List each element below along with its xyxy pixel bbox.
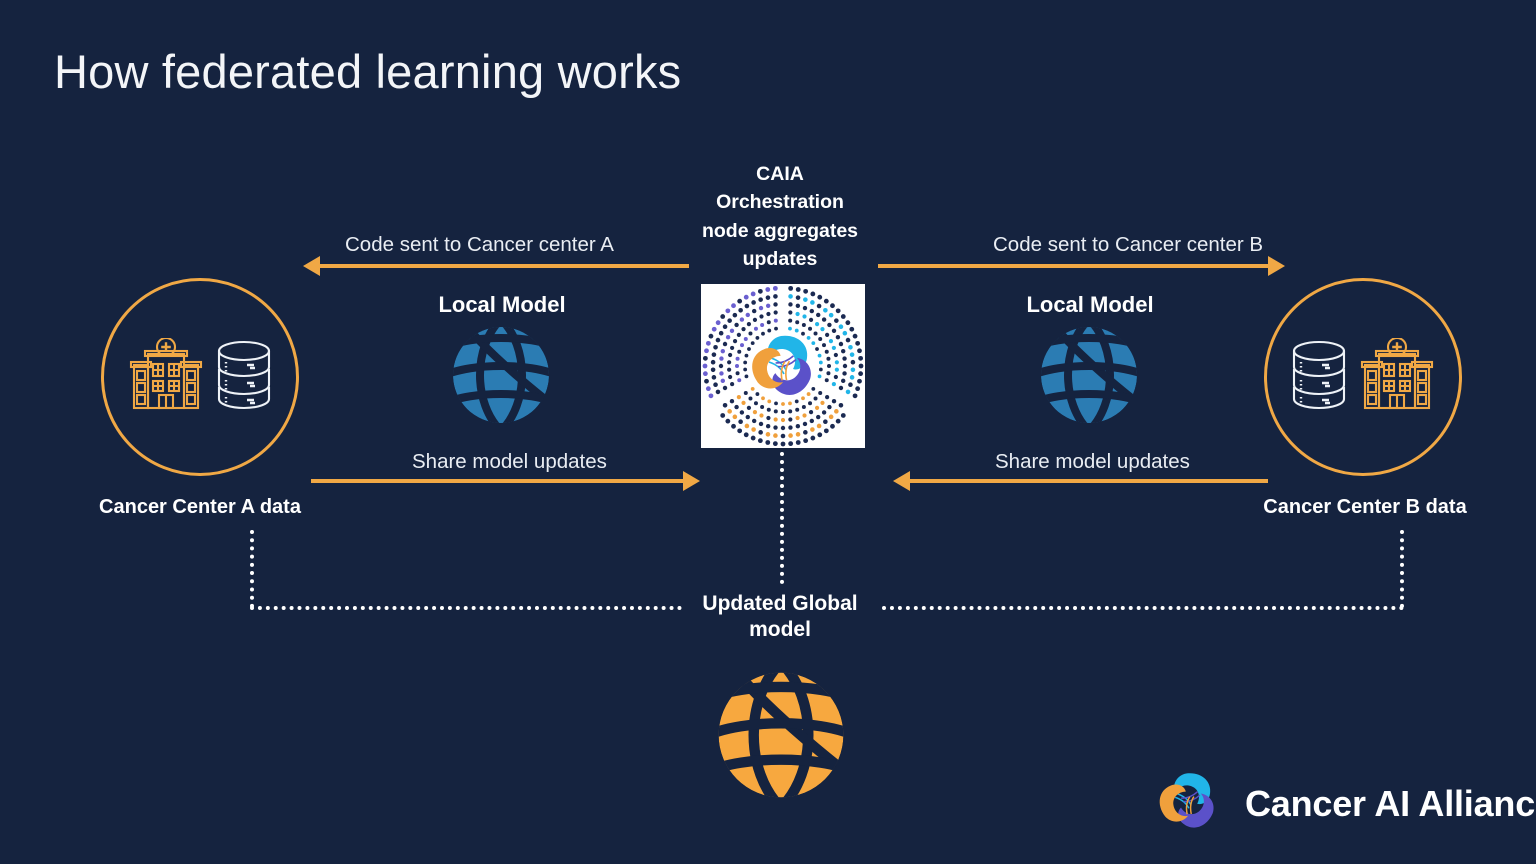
globe-icon xyxy=(716,670,846,805)
dotted-connector-hub-down xyxy=(780,452,784,584)
share-updates-from-a-label: Share model updates xyxy=(412,450,607,474)
caia-orchestration-heading: CAIA Orchestration node aggregates updat… xyxy=(660,160,900,273)
database-icon xyxy=(213,339,275,416)
cancer-center-a-label: Cancer Center A data xyxy=(60,496,340,519)
hospital-icon xyxy=(125,338,207,417)
cancer-center-b-circle xyxy=(1264,278,1462,476)
caia-heading-line-4: updates xyxy=(660,245,900,273)
caia-heading-line-1: CAIA xyxy=(660,160,900,188)
updated-global-model-line-1: Updated Global xyxy=(660,591,900,617)
cancer-center-a-circle xyxy=(101,278,299,476)
dotted-connector-a-down xyxy=(250,530,254,608)
globe-icon xyxy=(1039,325,1139,430)
cancer-center-b-icons xyxy=(1267,281,1459,473)
cancer-center-b-label: Cancer Center B data xyxy=(1225,496,1505,519)
hospital-icon xyxy=(1356,338,1438,417)
local-model-left-label: Local Model xyxy=(402,292,602,318)
share-updates-from-b-arrow-head xyxy=(893,471,910,491)
caia-heading-line-2: Orchestration xyxy=(660,188,900,216)
cancer-center-a-icons xyxy=(104,281,296,473)
updated-global-model-line-2: model xyxy=(660,617,900,643)
caia-heading-line-3: node aggregates xyxy=(660,217,900,245)
dotted-connector-b-across xyxy=(882,606,1404,610)
share-updates-from-a-arrow-head xyxy=(683,471,700,491)
dotted-connector-a-across xyxy=(250,606,682,610)
code-sent-to-center-a-label: Code sent to Cancer center A xyxy=(345,233,614,257)
footer-brand-text: Cancer AI Alliance xyxy=(1245,783,1536,825)
share-updates-from-b-label: Share model updates xyxy=(995,450,1190,474)
globe-icon xyxy=(451,325,551,430)
footer-logo: Cancer AI Alliance xyxy=(1145,758,1536,849)
code-sent-to-center-a-arrow-line xyxy=(317,264,689,268)
code-sent-to-center-a-arrow-head xyxy=(303,256,320,276)
share-updates-from-b-arrow-line xyxy=(910,479,1268,483)
page-title: How federated learning works xyxy=(54,44,681,99)
share-updates-from-a-arrow-line xyxy=(311,479,683,483)
database-icon xyxy=(1288,339,1350,416)
caia-orchestration-node-logo xyxy=(701,284,865,448)
three-hands-icon xyxy=(1145,758,1231,849)
code-sent-to-center-b-arrow-line xyxy=(878,264,1268,268)
slide-canvas: How federated learning works CAIA Orches… xyxy=(0,0,1536,864)
updated-global-model-label: Updated Global model xyxy=(660,591,900,644)
code-sent-to-center-b-label: Code sent to Cancer center B xyxy=(993,233,1263,257)
code-sent-to-center-b-arrow-head xyxy=(1268,256,1285,276)
dotted-connector-b-down xyxy=(1400,530,1404,608)
local-model-right-label: Local Model xyxy=(990,292,1190,318)
